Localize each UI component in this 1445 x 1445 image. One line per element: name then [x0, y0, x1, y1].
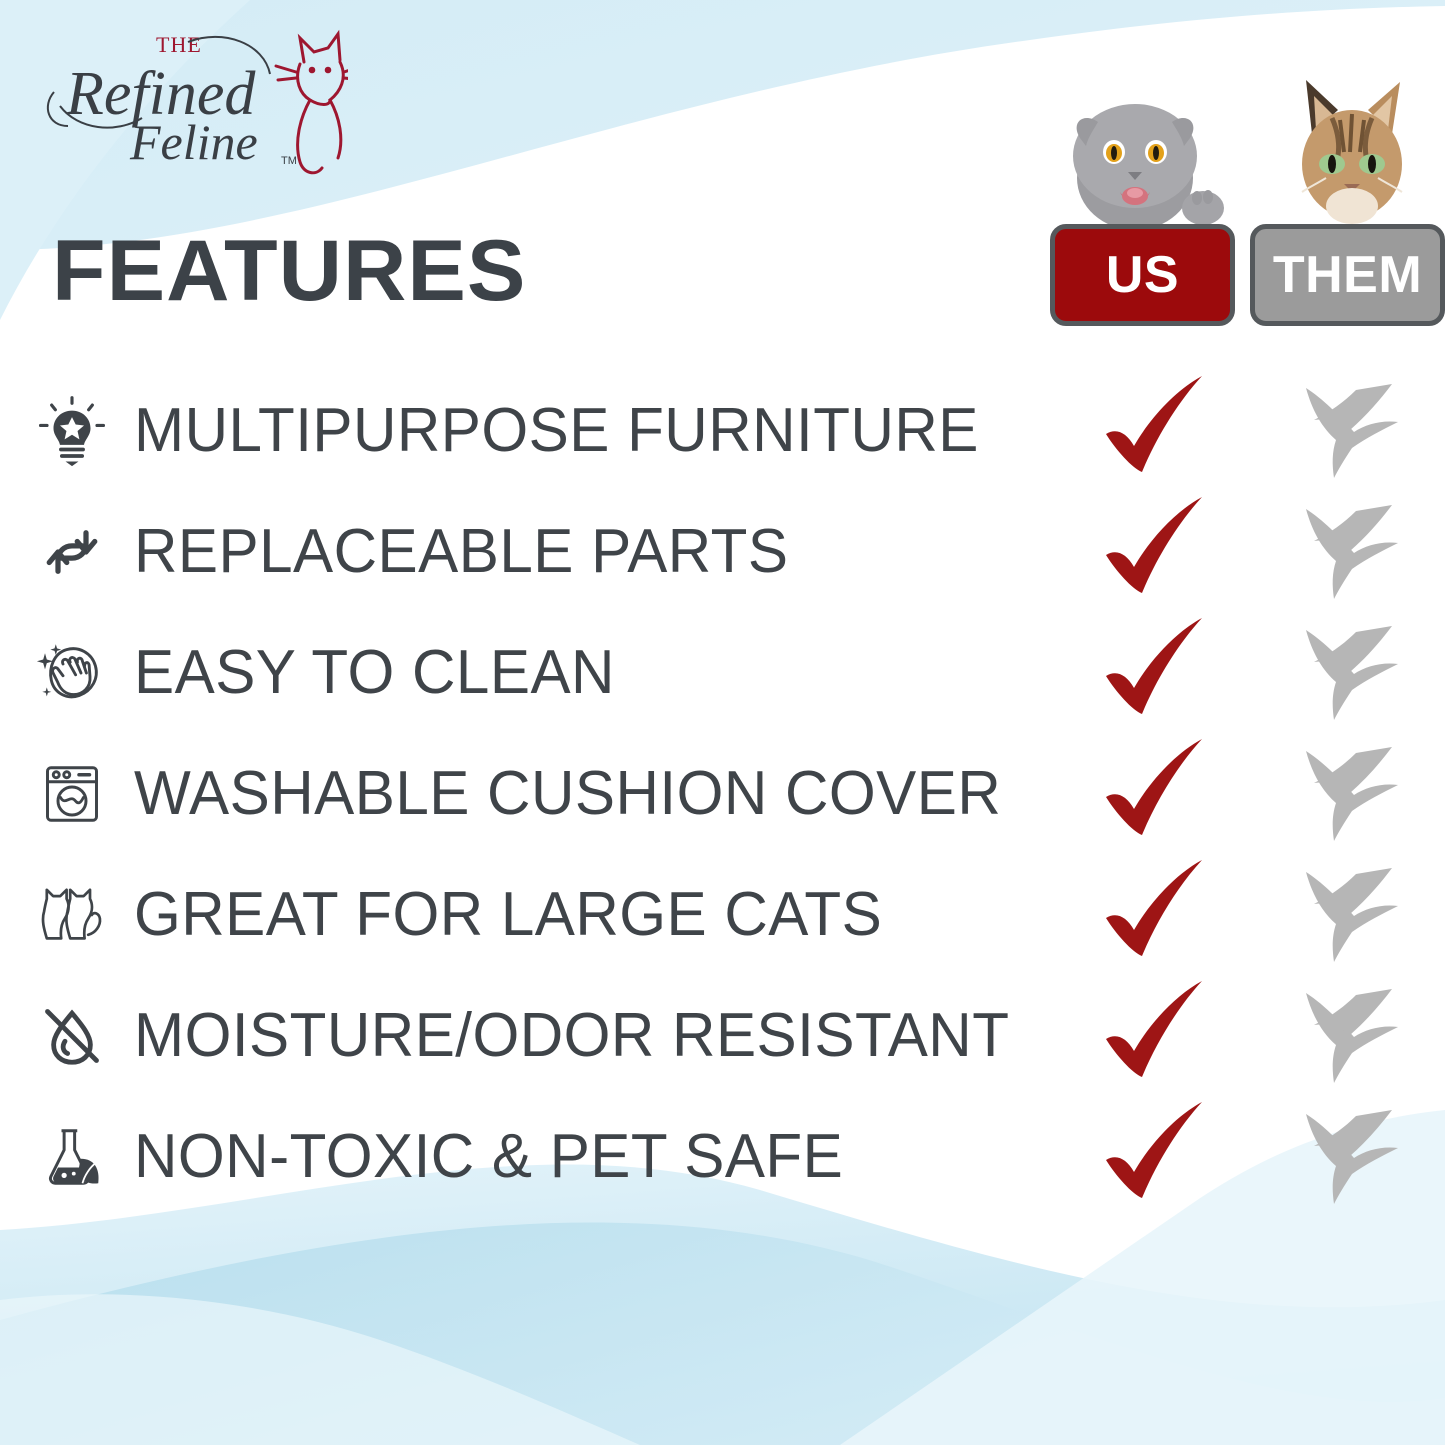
check-mark-icon [1098, 497, 1218, 607]
feature-row: WASHABLE CUSHION COVER [0, 733, 1445, 854]
check-mark-icon [1098, 739, 1218, 849]
cross-mark-icon [1288, 618, 1408, 728]
them-column-badge[interactable]: THEM [1250, 224, 1445, 326]
page-title: FEATURES [52, 228, 526, 314]
feature-list: MULTIPURPOSE FURNITURE [0, 370, 1445, 1217]
feature-label: WASHABLE CUSHION COVER [134, 763, 1001, 825]
them-column-label: THEM [1273, 245, 1422, 305]
feature-row: GREAT FOR LARGE CATS [0, 854, 1445, 975]
logo-feline-text: Feline [129, 114, 258, 170]
cleaning-hand-icon [32, 633, 112, 713]
lightbulb-star-icon [32, 391, 112, 471]
check-mark-icon [1098, 1102, 1218, 1212]
gray-scottish-fold-cat-photo [1073, 104, 1224, 230]
feature-label: GREAT FOR LARGE CATS [134, 884, 882, 946]
feature-label: REPLACEABLE PARTS [134, 521, 788, 583]
feature-label: EASY TO CLEAN [134, 642, 615, 704]
cross-mark-icon [1288, 497, 1408, 607]
feature-row: MULTIPURPOSE FURNITURE [0, 370, 1445, 491]
feature-comparison-infographic: THE Refined Feline TM FEATURES [0, 0, 1445, 1445]
comparison-column-headers: US THEM [1050, 224, 1445, 330]
check-mark-icon [1098, 860, 1218, 970]
us-column-badge[interactable]: US [1050, 224, 1235, 326]
us-column-label: US [1106, 245, 1179, 305]
header-cat-photos [1040, 60, 1445, 235]
cat-silhouette-icon [276, 34, 348, 173]
check-mark-icon [1098, 618, 1218, 728]
washing-machine-icon [32, 754, 112, 834]
flask-leaf-icon [32, 1117, 112, 1197]
logo-the-text: THE [156, 32, 202, 57]
two-cats-icon [32, 875, 112, 955]
feature-label: MOISTURE/ODOR RESISTANT [134, 1005, 1009, 1067]
refresh-arrows-icon [32, 512, 112, 592]
feature-row: REPLACEABLE PARTS [0, 491, 1445, 612]
feature-row: MOISTURE/ODOR RESISTANT [0, 975, 1445, 1096]
feature-label: MULTIPURPOSE FURNITURE [134, 400, 979, 462]
check-mark-icon [1098, 981, 1218, 1091]
feature-row: NON-TOXIC & PET SAFE [0, 1096, 1445, 1217]
feature-label: NON-TOXIC & PET SAFE [134, 1126, 843, 1188]
feature-row: EASY TO CLEAN [0, 612, 1445, 733]
no-water-droplet-icon [32, 996, 112, 1076]
cross-mark-icon [1288, 981, 1408, 1091]
check-mark-icon [1098, 376, 1218, 486]
cross-mark-icon [1288, 376, 1408, 486]
cross-mark-icon [1288, 739, 1408, 849]
cross-mark-icon [1288, 860, 1408, 970]
brand-logo: THE Refined Feline TM [38, 22, 348, 177]
logo-trademark-text: TM [281, 155, 297, 167]
cross-mark-icon [1288, 1102, 1408, 1212]
brown-tabby-cat-photo [1302, 80, 1402, 224]
